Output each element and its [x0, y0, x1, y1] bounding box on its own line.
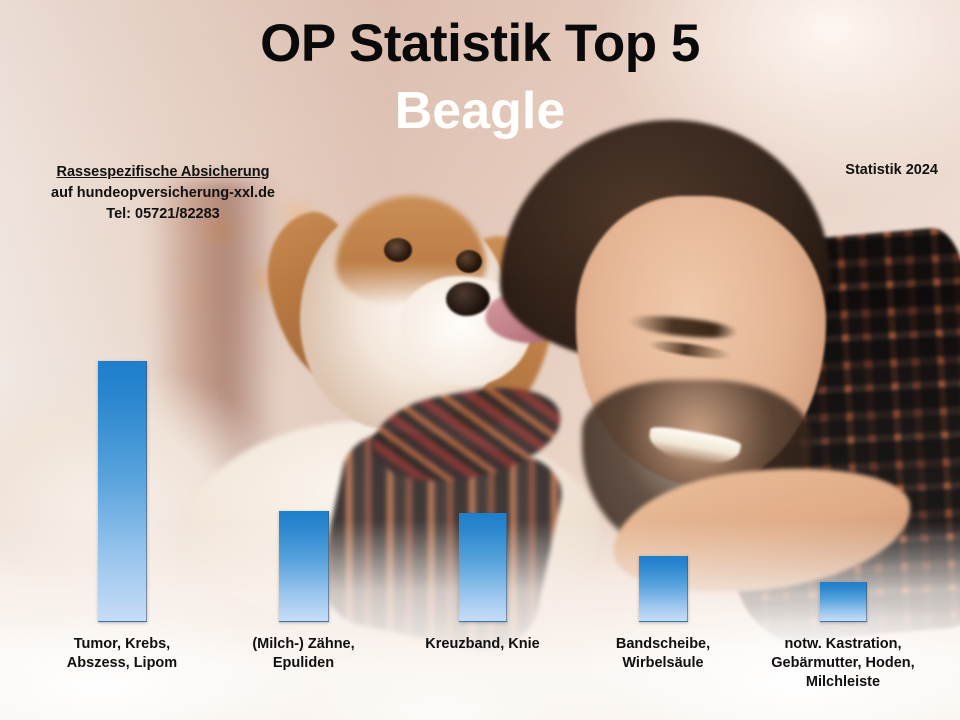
category-label-4: Bandscheibe,Wirbelsäule	[568, 635, 758, 673]
category-label-5: notw. Kastration,Gebärmutter, Hoden,Milc…	[748, 635, 938, 692]
bar-3	[459, 513, 507, 622]
category-label-line: Kreuzband, Knie	[388, 635, 578, 654]
category-label-line: Tumor, Krebs,	[27, 635, 217, 654]
category-label-1: Tumor, Krebs,Abszess, Lipom	[27, 635, 217, 673]
category-label-line: (Milch-) Zähne,	[209, 635, 399, 654]
category-label-line: Abszess, Lipom	[27, 654, 217, 673]
category-label-line: Wirbelsäule	[568, 654, 758, 673]
category-label-line: notw. Kastration,	[748, 635, 938, 654]
category-label-line: Gebärmutter, Hoden,	[748, 654, 938, 673]
bar-chart: Tumor, Krebs,Abszess, Lipom(Milch-) Zähn…	[0, 0, 960, 720]
category-label-line: Bandscheibe,	[568, 635, 758, 654]
category-label-3: Kreuzband, Knie	[388, 635, 578, 654]
category-label-2: (Milch-) Zähne,Epuliden	[209, 635, 399, 673]
category-label-line: Epuliden	[209, 654, 399, 673]
category-label-line: Milchleiste	[748, 673, 938, 692]
poster: OP Statistik Top 5 Beagle Rassespezifisc…	[0, 0, 960, 720]
bar-5	[820, 582, 867, 622]
bar-4	[639, 556, 688, 622]
bar-2	[279, 511, 329, 622]
bar-1	[98, 361, 147, 622]
